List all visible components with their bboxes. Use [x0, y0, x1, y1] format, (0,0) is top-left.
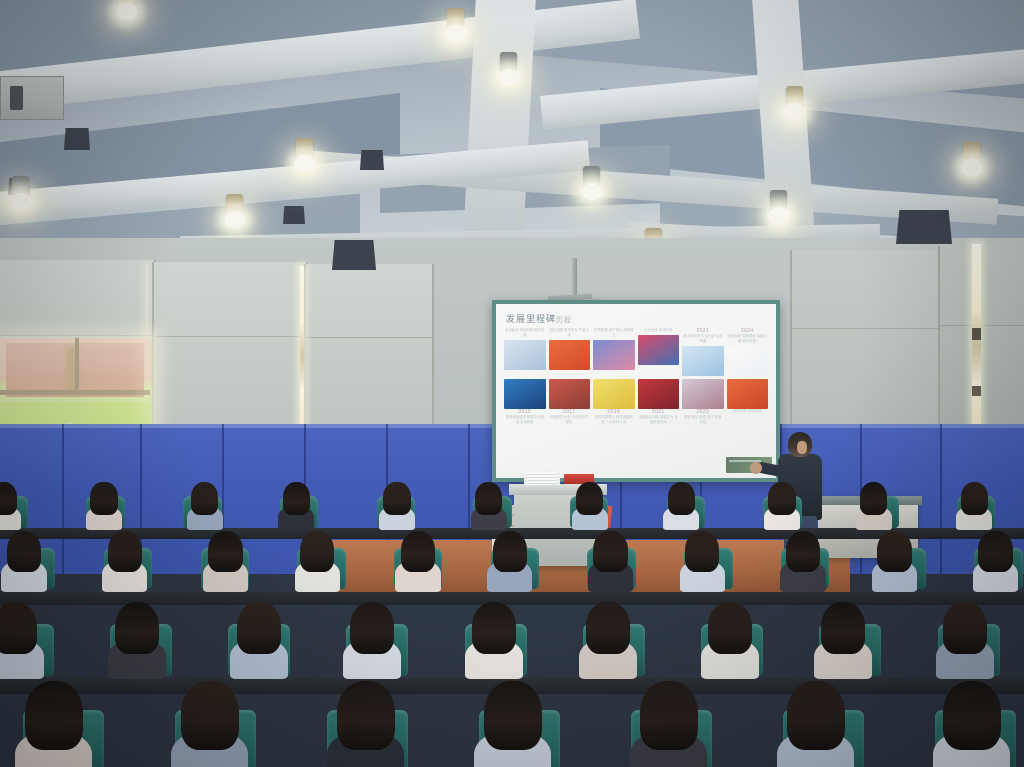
student-head [576, 482, 603, 514]
timeline-caption: 团队组建 首次发布 产品上线 [549, 328, 591, 338]
student [115, 602, 159, 690]
student [860, 482, 887, 537]
light-glow-icon [294, 155, 315, 172]
timeline-image-yellow-expo [593, 379, 635, 409]
timeline-image-tech-illustration [682, 346, 724, 376]
student [7, 531, 41, 600]
student-head [350, 602, 394, 654]
student [586, 602, 630, 690]
student-head [383, 482, 410, 514]
student-head [593, 531, 627, 572]
student-head [493, 531, 527, 572]
lecture-hall-photo: 发展里程碑历程 技术起步 初创阶段 研究探索团队组建 首次发布 产品上线市场拓展… [0, 0, 1024, 767]
light-glow-icon [581, 183, 602, 200]
student-head [768, 482, 795, 514]
audience [0, 470, 1024, 767]
slide-content: 发展里程碑历程 技术起步 初创阶段 研究探索团队组建 首次发布 产品上线市场拓展… [496, 304, 776, 478]
student [877, 531, 911, 600]
student-head [90, 482, 117, 514]
student [475, 482, 502, 537]
timeline-cell: 面向未来 持续突破 [727, 379, 769, 425]
student [208, 531, 242, 600]
student-head [25, 681, 83, 750]
student [685, 531, 719, 600]
timeline-caption: 数据 增长 图表 展示 年度 总结 [682, 415, 724, 425]
student-head [0, 482, 17, 514]
ceiling-downlight [118, 0, 135, 12]
timeline-image-orange-banner [727, 379, 769, 409]
student-head [860, 482, 887, 514]
student [283, 482, 310, 537]
wall-panel [938, 246, 1024, 454]
ceiling-downlight [500, 52, 517, 78]
ceiling-air-conditioner [0, 76, 64, 120]
student [668, 482, 695, 537]
ceiling-downlight [447, 8, 464, 34]
student-head [237, 602, 281, 654]
ceiling-beam [462, 0, 538, 261]
ceiling-downlight [963, 142, 980, 168]
student-head [337, 681, 395, 750]
timeline-image-blue-pink-photo [593, 340, 635, 370]
timeline-caption: 基础设施建设 数据中心落成 技术积累 [504, 415, 546, 425]
student-head [586, 602, 630, 654]
ceiling-speaker-icon [64, 128, 90, 150]
student [383, 482, 410, 537]
light-glow-icon [784, 103, 805, 120]
student [943, 681, 1001, 767]
student-head [191, 482, 218, 514]
student-head [978, 531, 1012, 572]
window-mullion [972, 328, 981, 340]
student-head [181, 681, 239, 750]
light-glow-icon [445, 25, 466, 42]
ceiling-downlight [770, 190, 787, 216]
student-head [484, 681, 542, 750]
ceiling-speaker-icon [283, 206, 305, 224]
timeline-caption: 行业合作 区域布局 [638, 328, 680, 333]
student-head [943, 602, 987, 654]
student [593, 531, 627, 600]
student-head [877, 531, 911, 572]
student-head [787, 681, 845, 750]
timeline-image-text-block [727, 346, 769, 376]
student-head [475, 482, 502, 514]
student [181, 681, 239, 767]
timeline-caption: 市场拓展 用户增长 品牌建立 [593, 328, 635, 338]
student [787, 681, 845, 767]
student-head [401, 531, 435, 572]
student [978, 531, 1012, 600]
timeline-caption: 庆典活动 团队规模扩大 全国布局完成 [638, 415, 680, 425]
timeline-image-red-assembly [549, 379, 591, 409]
student [943, 602, 987, 690]
student [191, 482, 218, 537]
presenter-face [797, 441, 807, 454]
student-head [208, 531, 242, 572]
timeline-row-top: 技术起步 初创阶段 研究探索团队组建 首次发布 产品上线市场拓展 用户增长 品牌… [504, 328, 768, 376]
ceiling-downlight [12, 176, 29, 202]
student [0, 482, 17, 537]
student-head [0, 602, 37, 654]
student [961, 482, 988, 537]
student-head [786, 531, 820, 572]
timeline-image-orange-poster [549, 340, 591, 370]
slide-subtitle-text: 历程 [556, 317, 572, 324]
ac-vent [10, 86, 24, 110]
light-glow-icon [10, 193, 31, 210]
timeline-caption: 数字化转型 平台升级 生态构建 [682, 334, 724, 344]
timeline-caption: 年度表彰大会 行业影响力提升 [549, 415, 591, 425]
student-head [115, 602, 159, 654]
student [300, 531, 334, 600]
light-glow-icon [116, 3, 137, 20]
timeline-cell: 2015基础设施建设 数据中心落成 技术积累 [504, 379, 546, 425]
timeline-row-bottom: 2015基础设施建设 数据中心落成 技术积累2017年度表彰大会 行业影响力提升… [504, 379, 768, 425]
ceiling-downlight [786, 86, 803, 112]
window-mullion [972, 386, 981, 396]
student-head [943, 681, 1001, 750]
timeline-image-red-ceremony [638, 379, 680, 409]
student [640, 681, 698, 767]
student [708, 602, 752, 690]
ceiling-downlight [296, 138, 313, 164]
timeline-cell: 2017年度表彰大会 行业影响力提升 [549, 379, 591, 425]
timeline-cell: 团队组建 首次发布 产品上线 [549, 328, 591, 376]
student [0, 602, 37, 690]
timeline-cell: 2021庆典活动 团队规模扩大 全国布局完成 [638, 379, 680, 425]
light-glow-icon [768, 207, 789, 224]
timeline-caption: 面向未来 持续突破 [727, 409, 769, 414]
student-head [821, 602, 865, 654]
student [576, 482, 603, 537]
student [484, 681, 542, 767]
wall-speaker-right-icon [896, 210, 952, 244]
student-head [7, 531, 41, 572]
ceiling-downlight [226, 194, 243, 220]
student [108, 531, 142, 600]
student [350, 602, 394, 690]
window-mullion [0, 390, 150, 395]
student-head [961, 482, 988, 514]
timeline-image-blue-cityscape [504, 379, 546, 409]
timeline-image-network-diagram [504, 340, 546, 370]
student-head [708, 602, 752, 654]
student [768, 482, 795, 537]
timeline-caption: 技术起步 初创阶段 研究探索 [504, 328, 546, 338]
student-head [640, 681, 698, 750]
projection-screen: 发展里程碑历程 技术起步 初创阶段 研究探索团队组建 首次发布 产品上线市场拓展… [492, 300, 780, 482]
student-head [472, 602, 516, 654]
student [237, 602, 281, 690]
student [337, 681, 395, 767]
student-head [668, 482, 695, 514]
student [401, 531, 435, 600]
timeline-cell: 2021数字化转型 平台升级 生态构建 [682, 328, 724, 376]
timeline-cell: 市场拓展 用户增长 品牌建立 [593, 328, 635, 376]
window-mullion [75, 338, 79, 390]
light-glow-icon [961, 159, 982, 176]
ceiling-downlight [583, 166, 600, 192]
timeline-cell: 2023数据 增长 图表 展示 年度 总结 [682, 379, 724, 425]
timeline-cell: 2024全面创新 智能融合 持续发展 新的征程 [727, 328, 769, 376]
student [493, 531, 527, 600]
student [821, 602, 865, 690]
timeline-cell: 2019创新成果展示 科技竞赛获奖 人才培养计划 [593, 379, 635, 425]
presenter-head [788, 432, 812, 457]
student [786, 531, 820, 600]
student-head [300, 531, 334, 572]
student-head [108, 531, 142, 572]
timeline-image-chart-funnel [682, 379, 724, 409]
wall-speaker-left-icon [332, 240, 376, 270]
timeline-cell: 行业合作 区域布局 [638, 328, 680, 376]
slide-title-text: 发展里程碑 [506, 314, 556, 324]
ceiling-speaker-icon [360, 150, 384, 170]
ceiling [0, 0, 1024, 262]
timeline-caption: 全面创新 智能融合 持续发展 新的征程 [727, 334, 769, 344]
slide-title: 发展里程碑历程 [506, 312, 768, 325]
student-head [685, 531, 719, 572]
timeline-image-conference-photo [638, 335, 680, 365]
light-glow-icon [498, 69, 519, 86]
student [472, 602, 516, 690]
timeline-cell: 技术起步 初创阶段 研究探索 [504, 328, 546, 376]
light-glow-icon [224, 211, 245, 228]
timeline-caption: 创新成果展示 科技竞赛获奖 人才培养计划 [593, 415, 635, 425]
student-head [283, 482, 310, 514]
student [25, 681, 83, 767]
student [90, 482, 117, 537]
